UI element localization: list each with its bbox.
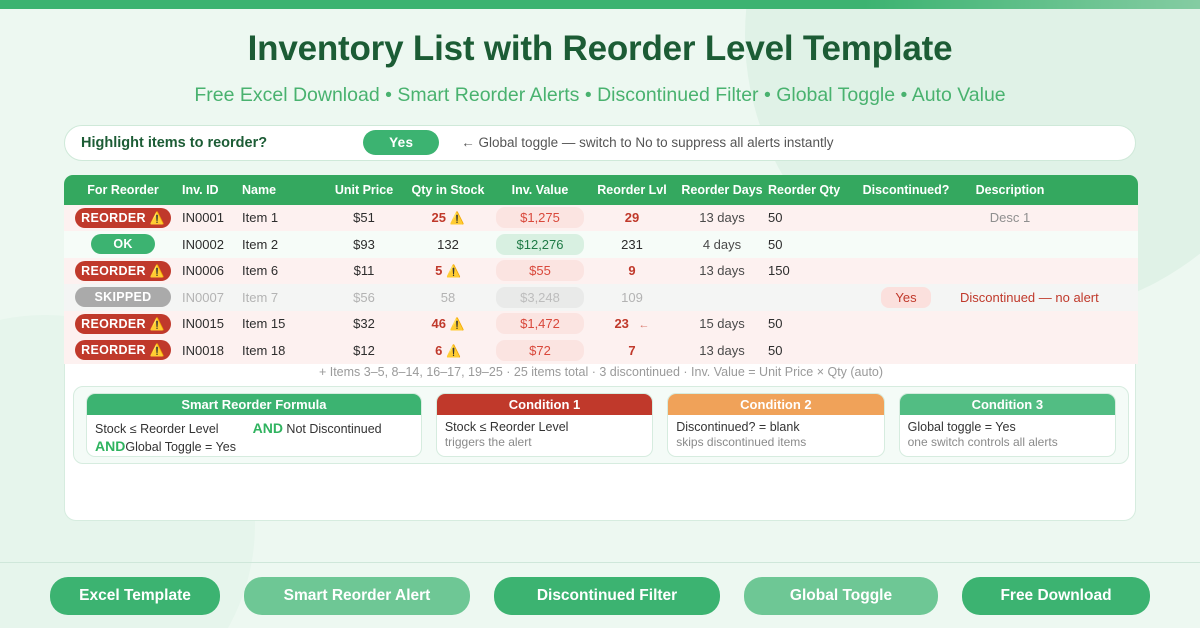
cell-reorder-days: 13 days	[676, 210, 768, 225]
description-text: Desc 1	[990, 210, 1030, 225]
formula-card-heading: Condition 3	[900, 394, 1115, 415]
table-row[interactable]: REORDER ⚠️IN0001Item 1$5125 ⚠️$1,2752913…	[64, 205, 1138, 232]
table-row[interactable]: OKIN0002Item 2$93132$12,2762314 days50	[64, 231, 1138, 258]
cell-for-reorder[interactable]: REORDER ⚠️	[64, 340, 182, 360]
cell-for-reorder[interactable]: SKIPPED	[64, 287, 182, 307]
cell-reorder-qty: 50	[768, 316, 852, 331]
cell-for-reorder[interactable]: OK	[64, 234, 182, 254]
table-row[interactable]: SKIPPEDIN0007Item 7$5658$3,248109YesDisc…	[64, 284, 1138, 311]
condition-secondary-text: triggers the alert	[445, 435, 644, 451]
cell-unit-price: $11	[324, 263, 404, 278]
warning-triangle-icon: ⚠️	[446, 344, 461, 358]
table-row[interactable]: REORDER ⚠️IN0015Item 15$3246 ⚠️$1,47223 …	[64, 311, 1138, 338]
cell-inv-value: $1,275	[492, 207, 588, 228]
table-header-row: For Reorder Inv. ID Name Unit Price Qty …	[64, 175, 1138, 205]
cell-for-reorder[interactable]: REORDER ⚠️	[64, 208, 182, 228]
col-header-for-reorder[interactable]: For Reorder	[64, 183, 182, 197]
description-text: Discontinued — no alert	[960, 290, 1099, 305]
cell-qty-in-stock: 6 ⚠️	[404, 343, 492, 358]
table-row[interactable]: REORDER ⚠️IN0018Item 18$126 ⚠️$72713 day…	[64, 337, 1138, 364]
formula-card-body: Global toggle = Yesone switch controls a…	[900, 415, 1115, 451]
cell-reorder-lvl: 9	[588, 263, 676, 278]
col-header-unit-price[interactable]: Unit Price	[324, 183, 404, 197]
cell-inv-value: $72	[492, 340, 588, 361]
global-toggle-value-button[interactable]: Yes	[363, 130, 439, 155]
cell-name: Item 6	[242, 263, 324, 278]
cell-description: Discontinued — no alert	[960, 290, 1060, 305]
reorder-status-badge: SKIPPED	[75, 287, 171, 307]
col-header-reorder-lvl[interactable]: Reorder Lvl	[588, 183, 676, 197]
formula-cards-panel: Smart Reorder FormulaStock ≤ Reorder Lev…	[73, 386, 1129, 464]
inv-value-pill: $1,472	[496, 313, 584, 334]
cell-name: Item 15	[242, 316, 324, 331]
table-row[interactable]: REORDER ⚠️IN0006Item 6$115 ⚠️$55913 days…	[64, 258, 1138, 285]
warning-triangle-icon: ⚠️	[150, 264, 165, 278]
cell-description: Desc 1	[960, 210, 1060, 225]
footer-button[interactable]: Smart Reorder Alert	[244, 577, 470, 615]
warning-triangle-icon: ⚠️	[446, 264, 461, 278]
col-header-discontinued[interactable]: Discontinued?	[852, 183, 960, 197]
reorder-level-arrow-annotation: ←	[633, 319, 650, 331]
col-header-qty-in-stock[interactable]: Qty in Stock	[404, 183, 492, 197]
inv-value-pill: $12,276	[496, 234, 584, 255]
formula-card: Smart Reorder FormulaStock ≤ Reorder Lev…	[86, 393, 422, 457]
and-operator: AND	[253, 420, 283, 436]
col-header-inv-id[interactable]: Inv. ID	[182, 183, 242, 197]
cell-qty-in-stock: 46 ⚠️	[404, 316, 492, 331]
formula-card: Condition 2Discontinued? = blankskips di…	[667, 393, 884, 457]
page-root: Inventory List with Reorder Level Templa…	[0, 0, 1200, 628]
hero-header: Inventory List with Reorder Level Templa…	[0, 0, 1200, 107]
condition-secondary-text: skips discontinued items	[676, 435, 875, 451]
cell-reorder-lvl: 231	[588, 237, 676, 252]
cell-inv-value: $1,472	[492, 313, 588, 334]
cell-reorder-days: 13 days	[676, 343, 768, 358]
formula-card: Condition 1Stock ≤ Reorder Leveltriggers…	[436, 393, 653, 457]
cell-unit-price: $93	[324, 237, 404, 252]
formula-card-heading: Condition 1	[437, 394, 652, 415]
cell-inv-id: IN0006	[182, 263, 242, 278]
inventory-card: For Reorder Inv. ID Name Unit Price Qty …	[64, 175, 1136, 521]
warning-triangle-icon: ⚠️	[150, 343, 165, 357]
warning-triangle-icon: ⚠️	[150, 317, 165, 331]
cell-qty-in-stock: 132	[404, 237, 492, 252]
cell-inv-value: $3,248	[492, 287, 588, 308]
cell-for-reorder[interactable]: REORDER ⚠️	[64, 314, 182, 334]
condition-primary-text: Discontinued? = blank	[676, 419, 875, 436]
global-toggle-label: Highlight items to reorder?	[81, 135, 267, 151]
reorder-status-badge: REORDER ⚠️	[75, 340, 171, 360]
col-header-reorder-days[interactable]: Reorder Days	[676, 183, 768, 197]
inv-value-pill: $1,275	[496, 207, 584, 228]
inv-value-pill: $55	[496, 260, 584, 281]
inventory-table: For Reorder Inv. ID Name Unit Price Qty …	[64, 175, 1138, 364]
cell-reorder-lvl: 23 ←	[588, 316, 676, 331]
cell-reorder-days: 13 days	[676, 263, 768, 278]
footer-button[interactable]: Excel Template	[50, 577, 220, 615]
reorder-status-badge: REORDER ⚠️	[75, 314, 171, 334]
cell-inv-id: IN0007	[182, 290, 242, 305]
global-toggle-bar[interactable]: Highlight items to reorder? Yes ← Global…	[64, 125, 1136, 161]
discontinued-yes-pill: Yes	[881, 287, 931, 308]
cell-qty-in-stock: 58	[404, 290, 492, 305]
cell-unit-price: $51	[324, 210, 404, 225]
reorder-status-badge: REORDER ⚠️	[75, 208, 171, 228]
col-header-name[interactable]: Name	[242, 183, 324, 197]
formula-card-body: Stock ≤ Reorder Leveltriggers the alert	[437, 415, 652, 451]
cell-unit-price: $56	[324, 290, 404, 305]
reorder-status-badge: OK	[91, 234, 155, 254]
cell-inv-id: IN0018	[182, 343, 242, 358]
condition-primary-text: Stock ≤ Reorder Level	[445, 419, 644, 436]
cell-reorder-lvl: 7	[588, 343, 676, 358]
cell-reorder-qty: 50	[768, 237, 852, 252]
cell-inv-id: IN0001	[182, 210, 242, 225]
cell-name: Item 1	[242, 210, 324, 225]
cell-unit-price: $12	[324, 343, 404, 358]
formula-card-heading: Smart Reorder Formula	[87, 394, 421, 415]
formula-card-heading: Condition 2	[668, 394, 883, 415]
cell-inv-value: $12,276	[492, 234, 588, 255]
cell-inv-value: $55	[492, 260, 588, 281]
table-footnote: + Items 3–5, 8–14, 16–17, 19–25 · 25 ite…	[65, 365, 1137, 379]
cell-reorder-qty: 150	[768, 263, 852, 278]
formula-card: Condition 3Global toggle = Yesone switch…	[899, 393, 1116, 457]
cell-reorder-days: 4 days	[676, 237, 768, 252]
cell-reorder-days: 15 days	[676, 316, 768, 331]
col-header-inv-value[interactable]: Inv. Value	[492, 183, 588, 197]
warning-triangle-icon: ⚠️	[450, 317, 465, 331]
cell-reorder-qty: 50	[768, 210, 852, 225]
warning-triangle-icon: ⚠️	[450, 211, 465, 225]
cell-name: Item 7	[242, 290, 324, 305]
inv-value-pill: $72	[496, 340, 584, 361]
cell-for-reorder[interactable]: REORDER ⚠️	[64, 261, 182, 281]
page-subtitle: Free Excel Download • Smart Reorder Aler…	[0, 84, 1200, 107]
col-header-reorder-qty[interactable]: Reorder Qty	[768, 183, 852, 197]
global-toggle-note: ← Global toggle — switch to No to suppre…	[461, 135, 833, 150]
footer-button-bar: Excel TemplateSmart Reorder AlertDiscont…	[0, 563, 1200, 628]
formula-expression: Stock ≤ Reorder LevelAND Not Discontinue…	[95, 419, 413, 457]
reorder-status-badge: REORDER ⚠️	[75, 261, 171, 281]
inv-value-pill: $3,248	[496, 287, 584, 308]
and-operator: AND	[95, 438, 125, 454]
cell-qty-in-stock: 25 ⚠️	[404, 210, 492, 225]
cell-discontinued: Yes	[852, 287, 960, 308]
cell-qty-in-stock: 5 ⚠️	[404, 263, 492, 278]
cell-name: Item 2	[242, 237, 324, 252]
formula-card-body: Stock ≤ Reorder LevelAND Not Discontinue…	[87, 415, 421, 457]
table-body: REORDER ⚠️IN0001Item 1$5125 ⚠️$1,2752913…	[64, 205, 1138, 364]
cell-reorder-lvl: 29	[588, 210, 676, 225]
cell-unit-price: $32	[324, 316, 404, 331]
page-title: Inventory List with Reorder Level Templa…	[0, 30, 1200, 69]
col-header-description[interactable]: Description	[960, 183, 1060, 197]
condition-secondary-text: one switch controls all alerts	[908, 435, 1107, 451]
footer-button[interactable]: Discontinued Filter	[494, 577, 720, 615]
cell-name: Item 18	[242, 343, 324, 358]
cell-inv-id: IN0002	[182, 237, 242, 252]
cell-reorder-lvl: 109	[588, 290, 676, 305]
cell-inv-id: IN0015	[182, 316, 242, 331]
warning-triangle-icon: ⚠️	[150, 211, 165, 225]
footer-button[interactable]: Global Toggle	[744, 577, 938, 615]
formula-card-body: Discontinued? = blankskips discontinued …	[668, 415, 883, 451]
condition-primary-text: Global toggle = Yes	[908, 419, 1107, 436]
cell-reorder-qty: 50	[768, 343, 852, 358]
footer-button[interactable]: Free Download	[962, 577, 1150, 615]
